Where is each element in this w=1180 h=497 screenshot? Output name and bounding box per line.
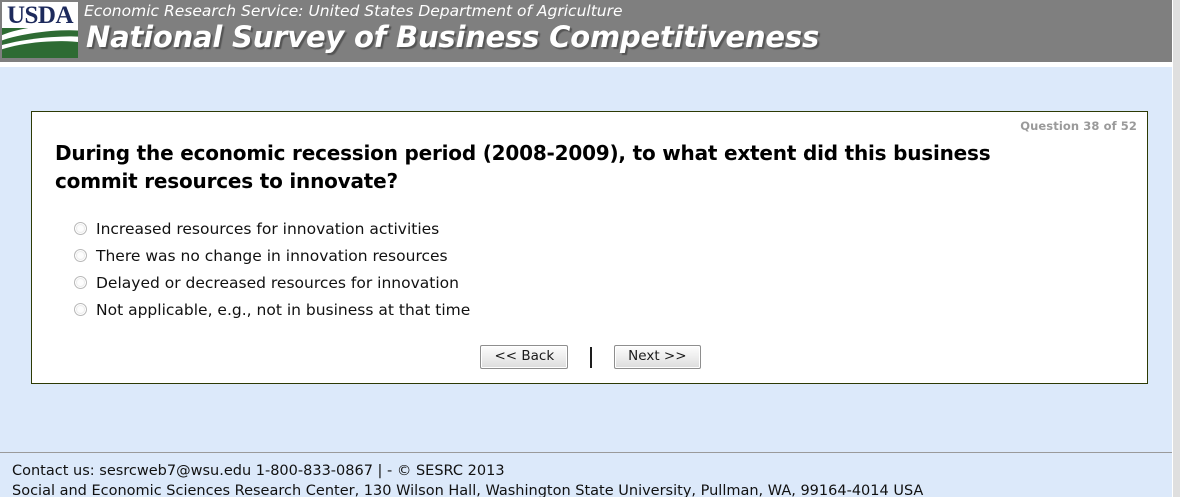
question-counter: Question 38 of 52: [1020, 119, 1137, 133]
answer-option-label-3: Delayed or decreased resources for innov…: [96, 274, 459, 292]
right-edge-rail: [1172, 0, 1180, 497]
answer-option-4[interactable]: Not applicable, e.g., not in business at…: [74, 296, 974, 323]
radio-button-2[interactable]: [74, 249, 87, 262]
page-body: Question 38 of 52 During the economic re…: [0, 62, 1172, 452]
site-footer: Contact us: sesrcweb7@wsu.edu 1-800-833-…: [0, 453, 1172, 497]
site-header: USDA Economic Research Service: United S…: [0, 0, 1172, 62]
navigation-divider: [590, 347, 592, 368]
answer-option-1[interactable]: Increased resources for innovation activ…: [74, 215, 974, 242]
radio-button-4[interactable]: [74, 303, 87, 316]
radio-button-3[interactable]: [74, 276, 87, 289]
radio-button-1[interactable]: [74, 222, 87, 235]
footer-address-line: Social and Economic Sciences Research Ce…: [12, 481, 1172, 497]
survey-title: National Survey of Business Competitiven…: [86, 20, 819, 54]
navigation-bar: << Back Next >>: [32, 345, 1149, 369]
survey-page: USDA Economic Research Service: United S…: [0, 0, 1180, 497]
back-button[interactable]: << Back: [480, 345, 568, 369]
usda-wordmark: USDA: [6, 2, 74, 30]
question-card: Question 38 of 52 During the economic re…: [31, 111, 1148, 384]
answer-option-2[interactable]: There was no change in innovation resour…: [74, 242, 974, 269]
footer-contact-line: Contact us: sesrcweb7@wsu.edu 1-800-833-…: [12, 461, 1172, 481]
next-button[interactable]: Next >>: [614, 345, 700, 369]
question-text: During the economic recession period (20…: [55, 139, 1045, 195]
answer-options-group: Increased resources for innovation activ…: [74, 215, 974, 323]
answer-option-label-4: Not applicable, e.g., not in business at…: [96, 301, 470, 319]
answer-option-label-1: Increased resources for innovation activ…: [96, 220, 439, 238]
usda-logo-icon: USDA: [2, 2, 78, 58]
answer-option-3[interactable]: Delayed or decreased resources for innov…: [74, 269, 974, 296]
agency-name: Economic Research Service: United States…: [84, 2, 623, 20]
answer-option-label-2: There was no change in innovation resour…: [96, 247, 448, 265]
